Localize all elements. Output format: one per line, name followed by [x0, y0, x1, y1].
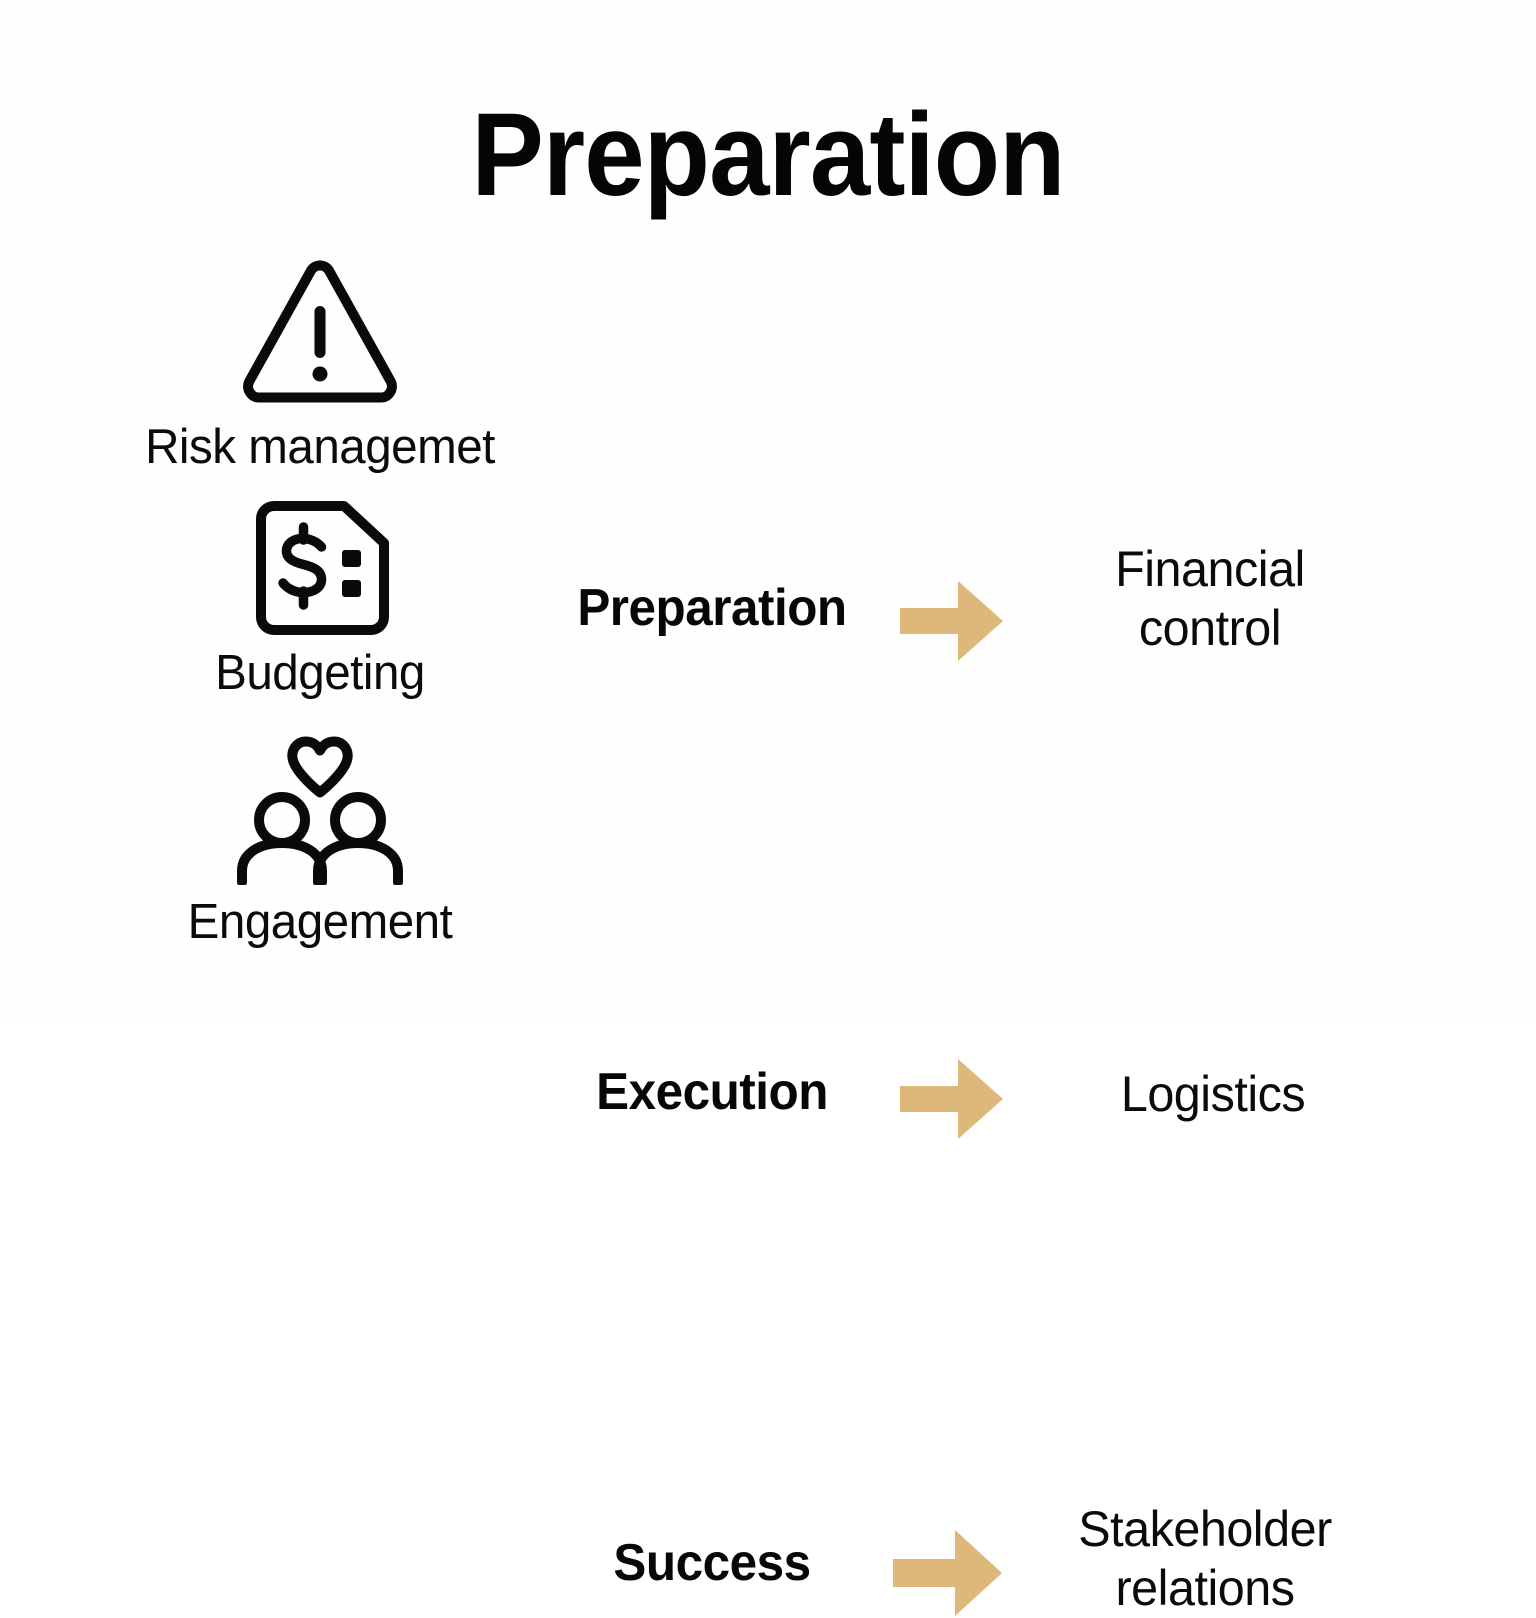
icon-block-risk-management: Risk managemet [90, 258, 550, 473]
outcome-line: control [1006, 599, 1413, 658]
icon-label-risk-management: Risk managemet [97, 422, 543, 473]
budget-dollar-document-icon [90, 500, 550, 636]
outcome-financial-control: Financial control [1006, 540, 1413, 658]
outcome-stakeholder-relations: Stakeholder relations [1001, 1500, 1408, 1618]
people-heart-icon [90, 735, 550, 885]
slide-canvas: Preparation Risk managemet Preparation F… [0, 0, 1536, 1024]
icon-block-engagement: Engagement [90, 735, 550, 948]
arrow-right-icon [900, 1058, 1020, 1144]
stage-label-success: Success [522, 1533, 902, 1593]
stage-label-preparation: Preparation [522, 578, 902, 638]
icon-label-budgeting: Budgeting [97, 648, 543, 699]
icon-block-budgeting: Budgeting [90, 500, 550, 699]
outcome-line: Stakeholder [1001, 1500, 1408, 1559]
outcome-logistics: Logistics [1009, 1065, 1416, 1124]
stage-label-execution: Execution [522, 1062, 902, 1122]
flow-row: Risk managemet Preparation Financial con… [0, 258, 1536, 259]
arrow-right-icon [900, 580, 1020, 666]
outcome-line: Logistics [1009, 1065, 1416, 1124]
flow-row: Engagement Success Stakeholder relations [0, 735, 1536, 736]
icon-label-engagement: Engagement [97, 897, 543, 948]
outcome-line: Financial [1006, 540, 1413, 599]
flow-row: Budgeting Execution Logistics [0, 500, 1536, 501]
arrow-right-icon [893, 1529, 1013, 1615]
page-title: Preparation [61, 96, 1474, 214]
warning-triangle-icon [90, 258, 550, 410]
outcome-line: relations [1001, 1559, 1408, 1618]
